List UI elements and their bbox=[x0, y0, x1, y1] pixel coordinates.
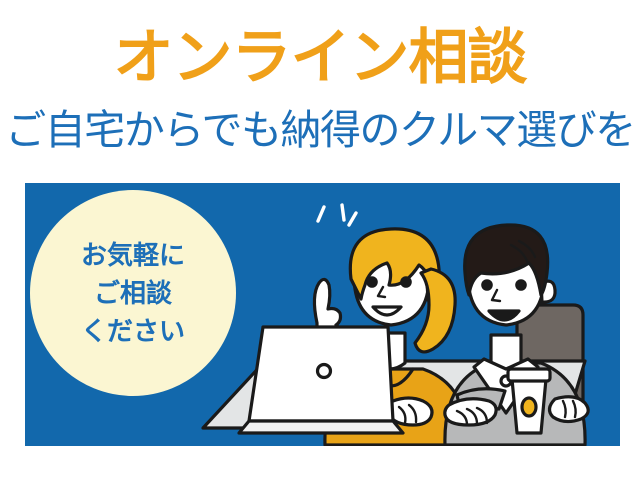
promo-banner: オンライン相談 ご自宅からでも納得のクルマ選びを .ol { stroke:#1… bbox=[0, 0, 640, 480]
consultation-badge: お気軽に ご相談 ください bbox=[30, 190, 236, 396]
page-title: オンライン相談 bbox=[0, 22, 640, 94]
laptop-shape bbox=[239, 327, 403, 433]
headline-area: オンライン相談 ご自宅からでも納得のクルマ選びを bbox=[0, 0, 640, 176]
badge-line-3: ください bbox=[81, 312, 185, 350]
badge-line-1: お気軽に bbox=[81, 236, 185, 274]
badge-text-block: お気軽に ご相談 ください bbox=[30, 190, 236, 396]
badge-line-2: ご相談 bbox=[94, 274, 172, 312]
sparkle-icon bbox=[318, 205, 356, 225]
page-subtitle: ご自宅からでも納得のクルマ選びを bbox=[0, 104, 640, 156]
illustration-panel: .ol { stroke:#1A1A1A; stroke-width:3.2; … bbox=[25, 183, 620, 446]
